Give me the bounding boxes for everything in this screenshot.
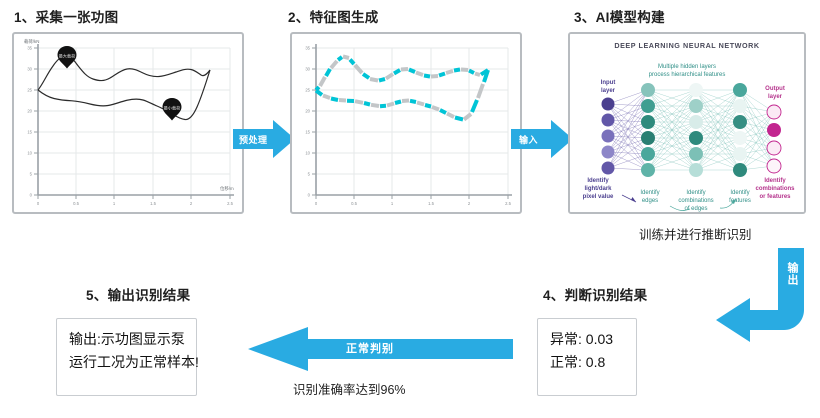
svg-text:0: 0 [37,201,40,206]
feature-segments-lower [316,70,488,120]
output-result-line-2: 运行工况为正常样本! [69,351,184,374]
svg-text:30: 30 [27,67,32,72]
svg-text:1.5: 1.5 [150,201,156,206]
svg-text:0.5: 0.5 [73,201,79,206]
arrow-preprocess-label: 预处理 [239,133,268,146]
feature-segments-upper [316,57,488,91]
nn-h3-note-1: Identify [730,190,749,196]
svg-text:1.5: 1.5 [428,201,434,206]
arrow-output-bent: 输出 [706,248,810,370]
svg-text:5: 5 [30,172,33,177]
svg-text:25: 25 [305,88,310,93]
svg-text:0: 0 [315,201,318,206]
nn-title-text: DEEP LEARNING NEURAL NETWORK [614,41,760,50]
svg-text:20: 20 [27,109,32,114]
arrow-input: 输入 [511,118,573,160]
svg-text:最小载荷: 最小载荷 [164,105,181,112]
svg-text:1: 1 [113,201,116,206]
output-result-line-1: 输出:示功图显示泵 [69,328,184,351]
svg-text:35: 35 [27,46,32,51]
nn-out-note-3: or features [759,194,791,200]
normal-label: 正常: [550,354,582,370]
svg-text:25: 25 [27,88,32,93]
marker-pin-upper: 最大载荷 [58,46,77,69]
step-2-title: 2、特征图生成 [288,6,379,26]
nn-h1-note-2: edges [642,198,658,204]
nn-output-layer-label-2: layer [768,94,783,100]
svg-text:0: 0 [30,193,33,198]
accuracy-caption: 识别准确率达到96% [293,379,406,398]
judgement-result-box: 异常: 0.03 正常: 0.8 [537,318,637,396]
nn-out-note-1: Identify [764,178,786,184]
abnormal-label: 异常: [550,331,582,347]
y-tick-labels: 3530 2520 1510 50 [305,46,310,198]
nn-hidden-note-2: process hierarchical features [649,72,726,78]
nn-h2-note-3: of edges [684,206,707,212]
nn-h2-note-1: Identify [686,190,705,196]
nn-left-note-1: Identify [587,178,609,184]
svg-text:2.5: 2.5 [227,201,233,206]
svg-text:5: 5 [308,172,311,177]
svg-text:2: 2 [190,201,193,206]
svg-text:0.5: 0.5 [351,201,357,206]
nn-h2-note-2: combinations [678,198,713,204]
step-3-title: 3、AI模型构建 [574,6,665,26]
normal-value: 0.8 [586,354,605,370]
deep-learning-network-diagram: DEEP LEARNING NEURAL NETWORK Multiple hi… [570,34,804,212]
svg-text:0: 0 [308,193,311,198]
feature-map-panel: 3530 2520 1510 50 00.5 11.5 22.5 [290,32,522,214]
arrow-normal-judgement-label: 正常判别 [346,340,394,356]
x-axis-label: 位移/m [220,185,234,192]
feature-map-chart: 3530 2520 1510 50 00.5 11.5 22.5 [292,34,520,212]
lower-stroke-curve [38,70,210,120]
arrow-normal-judgement: 正常判别 [248,325,513,373]
arrow-preprocess: 预处理 [233,118,295,160]
svg-text:15: 15 [27,130,32,135]
step-4-title: 4、判断识别结果 [543,284,647,304]
svg-text:2.5: 2.5 [505,201,511,206]
normal-row: 正常: 0.8 [550,351,624,374]
nn-input-layer-label-1: Input [601,80,616,86]
nn-left-note-2: light/dark [584,186,612,192]
svg-text:30: 30 [305,67,310,72]
nn-output-layer-label-1: Output [765,86,785,92]
svg-text:20: 20 [305,109,310,114]
nn-hidden-note-1: Multiple hidden layers [658,64,716,70]
nn-out-note-2: combinations [755,186,795,192]
dynamometer-chart-panel: 3530 2520 1510 50 00.5 11.5 22.5 载荷/kN 位… [12,32,244,214]
svg-text:1: 1 [391,201,394,206]
y-tick-labels: 3530 2520 1510 50 [27,46,32,198]
svg-text:10: 10 [27,151,32,156]
arrow-input-label: 输入 [519,133,538,146]
svg-text:35: 35 [305,46,310,51]
x-tick-labels: 00.5 11.5 22.5 [37,201,234,206]
output-result-box: 输出:示功图显示泵 运行工况为正常样本! [56,318,197,396]
nn-left-note-3: pixel value [583,194,614,200]
arrow-output-label: 输出 [784,262,800,286]
svg-text:10: 10 [305,151,310,156]
abnormal-value: 0.03 [586,331,613,347]
train-infer-caption: 训练并进行推断识别 [639,224,752,243]
abnormal-row: 异常: 0.03 [550,328,624,351]
step-1-title: 1、采集一张功图 [14,6,118,26]
svg-text:2: 2 [468,201,471,206]
nn-input-layer-label-2: layer [601,88,616,94]
svg-text:最大载荷: 最大载荷 [59,53,76,60]
y-axis-label: 载荷/kN [24,38,39,45]
neural-network-panel: DEEP LEARNING NEURAL NETWORK Multiple hi… [568,32,806,214]
step-5-title: 5、输出识别结果 [86,284,190,304]
nn-h1-note-1: Identify [640,190,659,196]
svg-text:15: 15 [305,130,310,135]
dynamometer-chart: 3530 2520 1510 50 00.5 11.5 22.5 载荷/kN 位… [14,34,242,212]
x-tick-labels: 00.5 11.5 22.5 [315,201,512,206]
